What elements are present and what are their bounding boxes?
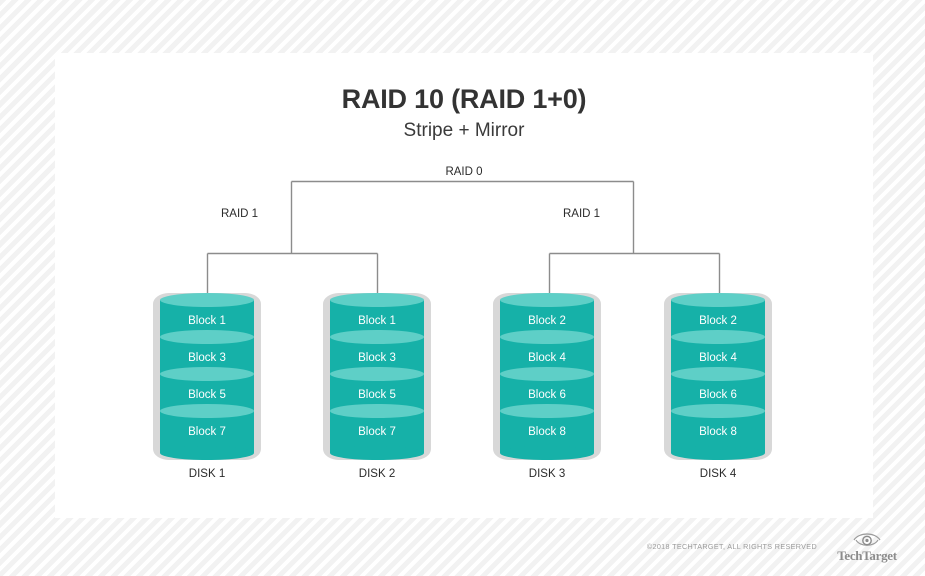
block-label: Block 7 (330, 411, 424, 453)
disk-4: Block 2 Block 4 Block 6 Block 8 (664, 293, 772, 460)
block-stack: Block 2 Block 4 Block 6 Block 8 (671, 300, 765, 453)
disk-2: Block 1 Block 3 Block 5 Block 7 (323, 293, 431, 460)
block-label: Block 3 (330, 337, 424, 379)
raid0-label: RAID 0 (55, 166, 873, 178)
disk-block: Block 5 (160, 374, 254, 416)
disk-block: Block 8 (671, 411, 765, 453)
disk-block: Block 7 (330, 411, 424, 453)
disk-3: Block 2 Block 4 Block 6 Block 8 (493, 293, 601, 460)
disk-block: Block 5 (330, 374, 424, 416)
disk-block: Block 3 (330, 337, 424, 379)
block-label: Block 1 (160, 300, 254, 342)
block-label: Block 4 (500, 337, 594, 379)
block-label: Block 3 (160, 337, 254, 379)
block-stack: Block 1 Block 3 Block 5 Block 7 (330, 300, 424, 453)
diagram-card: RAID 10 (RAID 1+0) Stripe + Mirror RAID … (55, 53, 873, 518)
disk-block: Block 4 (671, 337, 765, 379)
block-label: Block 5 (330, 374, 424, 416)
disk-block: Block 6 (500, 374, 594, 416)
disk-block: Block 2 (500, 300, 594, 342)
block-label: Block 2 (500, 300, 594, 342)
block-label: Block 4 (671, 337, 765, 379)
disk-block: Block 2 (671, 300, 765, 342)
disk-label: DISK 4 (664, 468, 772, 480)
block-label: Block 8 (671, 411, 765, 453)
disk-shell: Block 2 Block 4 Block 6 Block 8 (493, 293, 601, 460)
disk-1: Block 1 Block 3 Block 5 Block 7 (153, 293, 261, 460)
disk-block: Block 1 (160, 300, 254, 342)
disk-shell: Block 1 Block 3 Block 5 Block 7 (153, 293, 261, 460)
raid1-right-label: RAID 1 (563, 208, 600, 220)
block-label: Block 6 (671, 374, 765, 416)
block-label: Block 6 (500, 374, 594, 416)
block-label: Block 5 (160, 374, 254, 416)
disk-block: Block 3 (160, 337, 254, 379)
block-stack: Block 1 Block 3 Block 5 Block 7 (160, 300, 254, 453)
block-label: Block 1 (330, 300, 424, 342)
techtarget-wordmark: TechTarget (821, 548, 913, 564)
raid1-left-label: RAID 1 (221, 208, 258, 220)
disk-label: DISK 3 (493, 468, 601, 480)
disk-label: DISK 1 (153, 468, 261, 480)
disk-block: Block 4 (500, 337, 594, 379)
disk-block: Block 6 (671, 374, 765, 416)
disk-block: Block 7 (160, 411, 254, 453)
copyright-text: ©2018 TECHTARGET, ALL RIGHTS RESERVED (647, 542, 817, 551)
disk-block: Block 8 (500, 411, 594, 453)
disk-shell: Block 2 Block 4 Block 6 Block 8 (664, 293, 772, 460)
disk-block: Block 1 (330, 300, 424, 342)
block-stack: Block 2 Block 4 Block 6 Block 8 (500, 300, 594, 453)
block-label: Block 7 (160, 411, 254, 453)
disk-label: DISK 2 (323, 468, 431, 480)
techtarget-logo: TechTarget (821, 528, 913, 568)
disk-shell: Block 1 Block 3 Block 5 Block 7 (323, 293, 431, 460)
eye-icon (821, 528, 913, 550)
footer: ©2018 TECHTARGET, ALL RIGHTS RESERVED Te… (0, 524, 925, 576)
block-label: Block 2 (671, 300, 765, 342)
block-label: Block 8 (500, 411, 594, 453)
